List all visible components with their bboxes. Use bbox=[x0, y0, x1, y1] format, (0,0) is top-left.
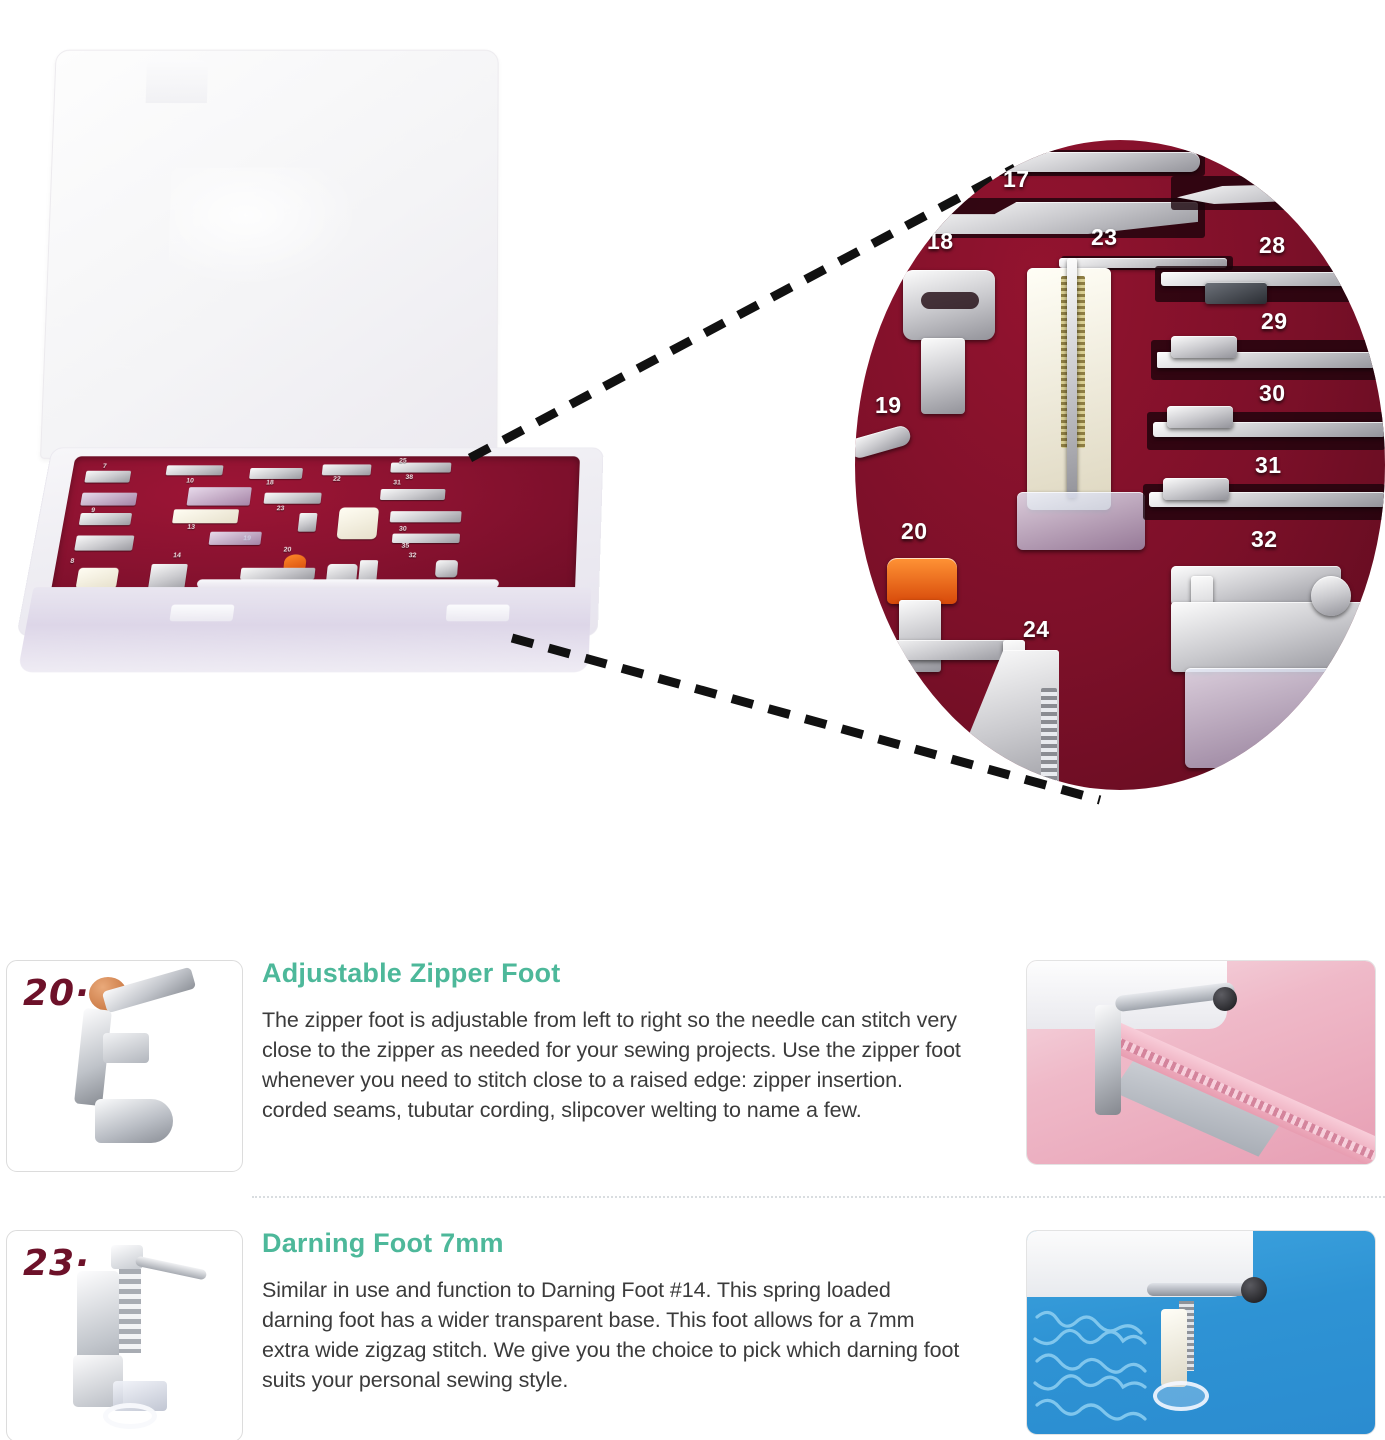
zipper-foot-thumbnail: 20· bbox=[6, 960, 243, 1172]
hero-section: 7 10 18 22 25 38 23 31 bbox=[0, 0, 1385, 790]
case-latch-right bbox=[446, 605, 510, 622]
mag-label-18: 18 bbox=[927, 228, 954, 255]
badge-number: 20· bbox=[23, 973, 90, 1014]
mag-label-29: 29 bbox=[1261, 308, 1288, 335]
case-seam bbox=[196, 579, 499, 588]
feature-title: Darning Foot 7mm bbox=[262, 1228, 962, 1259]
row-separator bbox=[252, 1196, 1385, 1198]
case-lid bbox=[40, 50, 499, 459]
mag-label-23: 23 bbox=[1091, 224, 1118, 251]
feature-title: Adjustable Zipper Foot bbox=[262, 958, 962, 989]
case-front-wall bbox=[18, 587, 592, 672]
feature-row-darning-foot: 23· Darning Foot 7mm Similar in use and … bbox=[0, 1218, 1385, 1440]
storage-case-image: 7 10 18 22 25 38 23 31 bbox=[8, 8, 608, 708]
zipper-foot-in-use-photo bbox=[1026, 960, 1376, 1165]
zipper-foot-text: Adjustable Zipper Foot The zipper foot i… bbox=[262, 958, 962, 1126]
case-lid-tab bbox=[146, 60, 208, 103]
darning-foot-text: Darning Foot 7mm Similar in use and func… bbox=[262, 1228, 962, 1396]
mag-label-24: 24 bbox=[1023, 616, 1050, 643]
darning-foot-in-use-photo bbox=[1026, 1230, 1376, 1435]
product-infographic: 7 10 18 22 25 38 23 31 bbox=[0, 0, 1385, 1440]
case-base: 7 10 18 22 25 38 23 31 bbox=[7, 447, 604, 686]
mag-label-17: 17 bbox=[1003, 166, 1030, 193]
magnified-tray-circle: 17 18 19 20 23 24 bbox=[855, 140, 1385, 790]
badge-number: 23· bbox=[23, 1243, 90, 1284]
feature-list: 20· Adjustable Zipper Foot The zipper fo… bbox=[0, 948, 1385, 1440]
mag-label-28: 28 bbox=[1259, 232, 1286, 259]
mag-label-31: 31 bbox=[1255, 452, 1282, 479]
case-latch-left bbox=[169, 605, 234, 622]
darning-foot-thumbnail: 23· bbox=[6, 1230, 243, 1440]
mag-label-20: 20 bbox=[901, 518, 928, 545]
mag-label-30: 30 bbox=[1259, 380, 1286, 407]
feature-row-zipper-foot: 20· Adjustable Zipper Foot The zipper fo… bbox=[0, 948, 1385, 1218]
feature-description: Similar in use and function to Darning F… bbox=[262, 1276, 962, 1396]
mag-label-32: 32 bbox=[1251, 526, 1278, 553]
feature-description: The zipper foot is adjustable from left … bbox=[262, 1006, 962, 1126]
mag-label-19: 19 bbox=[875, 392, 902, 419]
case-lid-highlight bbox=[168, 168, 360, 287]
